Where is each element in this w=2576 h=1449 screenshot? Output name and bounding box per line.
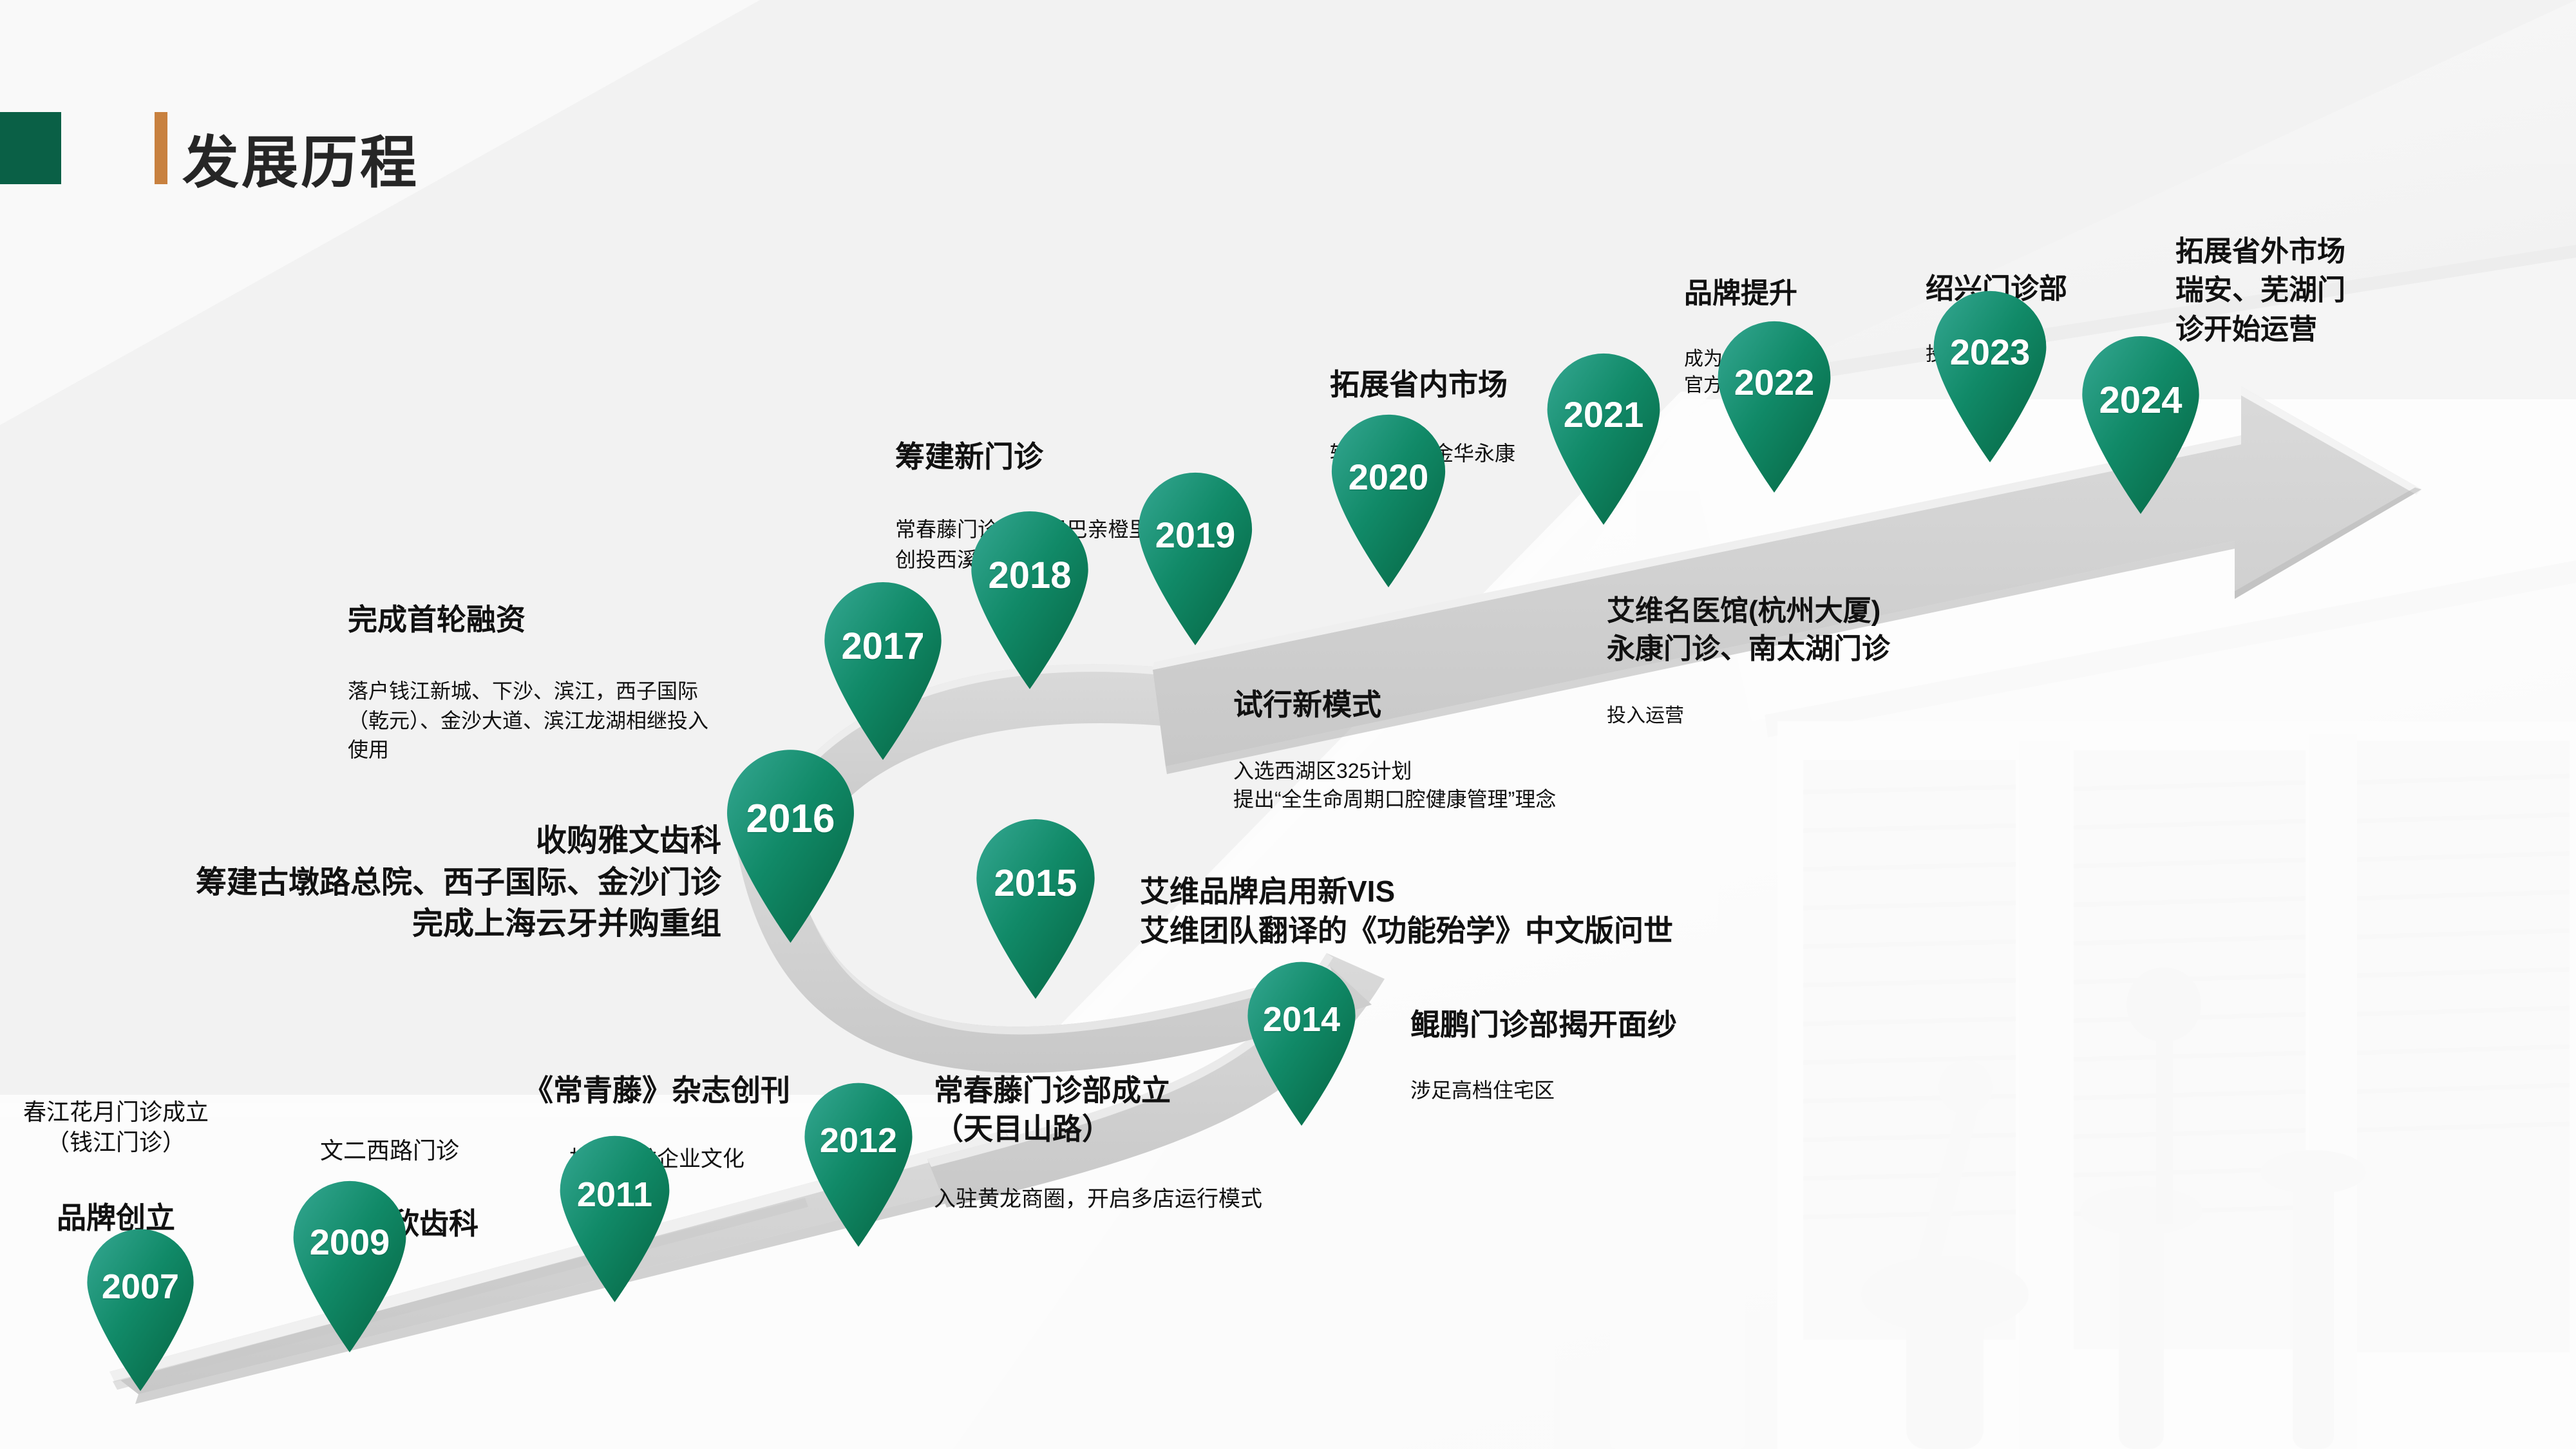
timeline-pin-2007[interactable]: 2007: [82, 1227, 198, 1391]
milestone-title-2015: 艾维品牌启用新VIS 艾维团队翻译的《功能殆学》中文版问世: [1140, 872, 1990, 951]
pin-marker-icon: [1133, 470, 1257, 645]
header-bar: [0, 113, 167, 184]
milestone-sub-2021: 投入运营: [1607, 703, 2058, 729]
pin-marker-icon: [1542, 351, 1665, 525]
milestone-label-2016: 收购雅文齿科 筹建古墩路总院、西子国际、金沙门诊 完成上海云牙并购重组: [0, 779, 721, 987]
header-green-block: [0, 112, 61, 184]
milestone-sub-2009: 文二西路门诊: [267, 1135, 512, 1166]
pin-marker-icon: [1243, 960, 1360, 1126]
pin-marker-icon: [800, 1081, 917, 1247]
pin-marker-icon: [1327, 412, 1450, 587]
timeline-pin-2015[interactable]: 2015: [971, 817, 1100, 999]
timeline-pin-2022[interactable]: 2022: [1713, 319, 1835, 493]
timeline-pin-2009[interactable]: 2009: [289, 1179, 411, 1352]
page-title: 发展历程: [182, 117, 419, 199]
milestone-sub-2012: 入驻黄龙商圈，开启多店运行模式: [934, 1185, 1346, 1213]
milestone-sub-2007: 春江花月门诊成立 （钱江门诊）: [19, 1097, 213, 1158]
timeline-pin-2018[interactable]: 2018: [966, 509, 1094, 689]
milestone-title-2011: 《常青藤》杂志创刊: [489, 1072, 824, 1110]
timeline-pin-2011[interactable]: 2011: [555, 1133, 674, 1302]
timeline-pin-2019[interactable]: 2019: [1133, 470, 1257, 645]
pin-marker-icon: [721, 747, 860, 943]
milestone-title-2017: 完成首轮融资: [348, 599, 811, 641]
milestone-label-2024: 拓展省外市场 瑞安、芜湖门 诊开始运营: [2175, 193, 2433, 389]
timeline-pin-2017[interactable]: 2017: [819, 580, 947, 760]
pin-marker-icon: [966, 509, 1094, 689]
timeline-pin-2021[interactable]: 2021: [1542, 351, 1665, 525]
pin-marker-icon: [1713, 319, 1835, 493]
pin-marker-icon: [555, 1133, 674, 1302]
milestone-title-2016: 收购雅文齿科 筹建古墩路总院、西子国际、金沙门诊 完成上海云牙并购重组: [0, 820, 721, 945]
pin-marker-icon: [289, 1179, 411, 1352]
timeline-pin-2023[interactable]: 2023: [1929, 289, 2051, 462]
pin-marker-icon: [2077, 334, 2204, 514]
pin-marker-icon: [971, 817, 1100, 999]
milestone-label-2014: 鲲鹏门诊部揭开面纱 涉足高档住宅区: [1410, 979, 1823, 1131]
timeline-pin-2024[interactable]: 2024: [2077, 334, 2204, 514]
header-orange-bar: [155, 112, 167, 184]
milestone-title-2022: 品牌提升: [1684, 274, 1942, 314]
milestone-sub-2014: 涉足高档住宅区: [1410, 1077, 1823, 1104]
milestone-sub-2019: 入选西湖区325计划 提出“全生命周期口腔健康管理”理念: [1233, 757, 1723, 813]
milestone-label-2021: 艾维名医馆(杭州大厦) 永康门诊、南太湖门诊 投入运营: [1607, 567, 2058, 755]
timeline-pin-2012[interactable]: 2012: [800, 1081, 917, 1247]
timeline-infographic: 发展历程 春江花月门诊成立 （钱江门诊） 品牌创立 文二西路门诊 收购皓欣齿科 …: [0, 0, 2576, 1449]
timeline-pin-2014[interactable]: 2014: [1243, 960, 1360, 1126]
milestone-title-2021: 艾维名医馆(杭州大厦) 永康门诊、南太湖门诊: [1607, 592, 2058, 668]
pin-marker-icon: [82, 1227, 198, 1391]
milestone-title-2024: 拓展省外市场 瑞安、芜湖门 诊开始运营: [2175, 232, 2433, 350]
timeline-pin-2016[interactable]: 2016: [721, 747, 860, 943]
milestone-title-2014: 鲲鹏门诊部揭开面纱: [1410, 1006, 1823, 1045]
pin-marker-icon: [819, 580, 947, 760]
timeline-pin-2020[interactable]: 2020: [1327, 412, 1450, 587]
pin-marker-icon: [1929, 289, 2051, 462]
